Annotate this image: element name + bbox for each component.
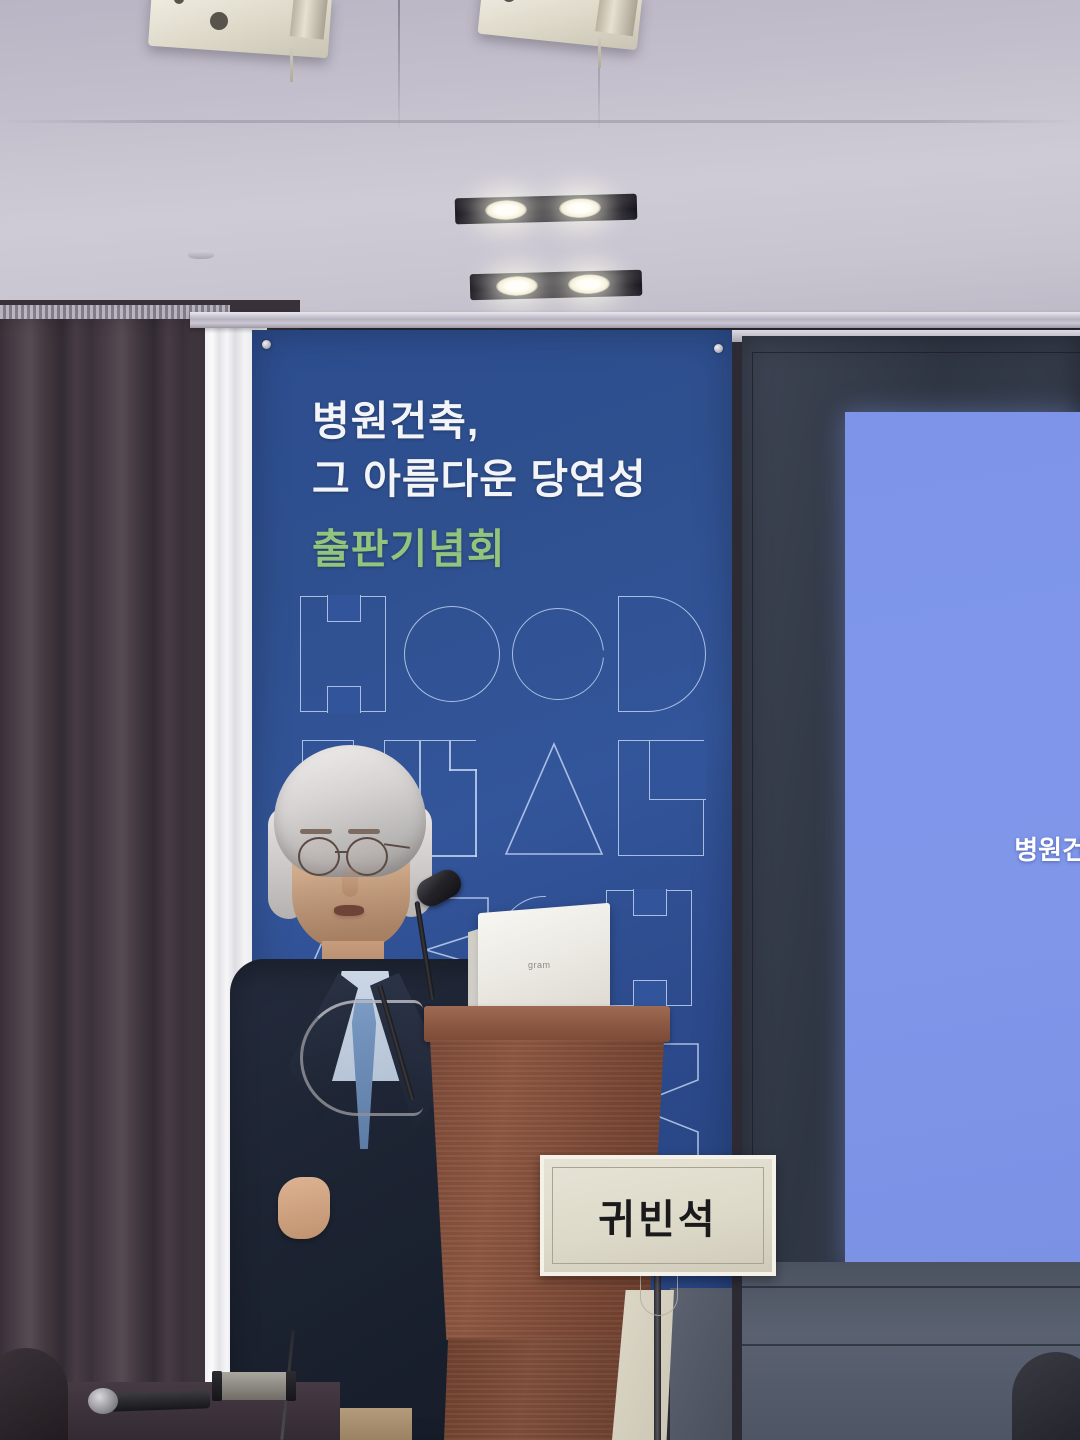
mouth xyxy=(334,905,364,916)
banner-grommet xyxy=(714,344,723,353)
hand xyxy=(278,1177,330,1239)
eyebrow-left xyxy=(300,829,332,834)
banner-grommet xyxy=(262,340,271,349)
vip-sign-label: 귀빈석 xyxy=(544,1159,772,1272)
vip-seating-sign: 귀빈석 xyxy=(540,1155,776,1276)
nose xyxy=(342,867,358,897)
wall-panel-seam-1 xyxy=(742,1286,1080,1288)
outline-letter-h2-icon xyxy=(606,890,692,1006)
spotlight xyxy=(559,198,602,219)
light-bar-lower xyxy=(470,270,643,300)
handheld-microphone-body[interactable] xyxy=(110,1390,211,1411)
av-knob xyxy=(210,12,228,30)
ceiling-panel-line-1 xyxy=(398,0,400,128)
av-stem xyxy=(598,38,601,68)
banner-hanging-rail xyxy=(190,312,1080,328)
av-projector-right xyxy=(480,0,680,62)
av-vent xyxy=(290,0,329,40)
spotlight xyxy=(496,275,539,296)
wall-panel-seam-2 xyxy=(742,1344,1080,1346)
projected-slide: 병원건 xyxy=(845,412,1080,1267)
eyebrow-right xyxy=(348,829,380,834)
outline-letter-l-icon xyxy=(618,740,704,856)
laptop-brand-logo: gram xyxy=(528,960,551,970)
eyeglass-bridge xyxy=(335,851,348,853)
spotlight xyxy=(485,200,528,221)
handheld-microphone-grille xyxy=(88,1388,118,1414)
light-bar-upper xyxy=(455,194,638,225)
wireless-transmitter xyxy=(218,1372,290,1400)
projected-slide-text: 병원건 xyxy=(1014,830,1080,867)
outline-letter-p-icon xyxy=(618,596,706,712)
sign-stand-shadow xyxy=(670,1288,732,1440)
transmitter-cap-right xyxy=(286,1371,296,1401)
blackout-curtain xyxy=(0,308,218,1440)
spotlight xyxy=(568,274,611,295)
banner-subtitle: 출판기념회 xyxy=(312,515,712,575)
microphone-cable xyxy=(300,1000,423,1116)
av-vent xyxy=(595,0,639,36)
podium-top-surface xyxy=(424,1006,670,1042)
av-projector-left xyxy=(150,0,350,70)
av-stem xyxy=(290,48,293,82)
conference-photo-scene: 병원건축, 그 아름다운 당연성 출판기념회 xyxy=(0,0,1080,1440)
smoke-detector xyxy=(188,250,214,259)
banner-title-line-1: 병원건축, xyxy=(312,392,712,450)
audience-member-left xyxy=(0,1348,68,1440)
banner-title-line-2: 그 아름다운 당연성 xyxy=(312,450,712,508)
transmitter-cap-left xyxy=(212,1371,222,1401)
outline-letter-o-icon xyxy=(404,606,500,702)
outline-letter-s-icon xyxy=(512,608,604,700)
eyeglass-lens-left xyxy=(298,837,340,876)
banner-title: 병원건축, 그 아름다운 당연성 xyxy=(312,392,712,508)
outline-letter-row-1 xyxy=(300,592,720,742)
ceiling-seam xyxy=(0,120,1080,123)
outline-letter-h-icon xyxy=(300,596,386,712)
